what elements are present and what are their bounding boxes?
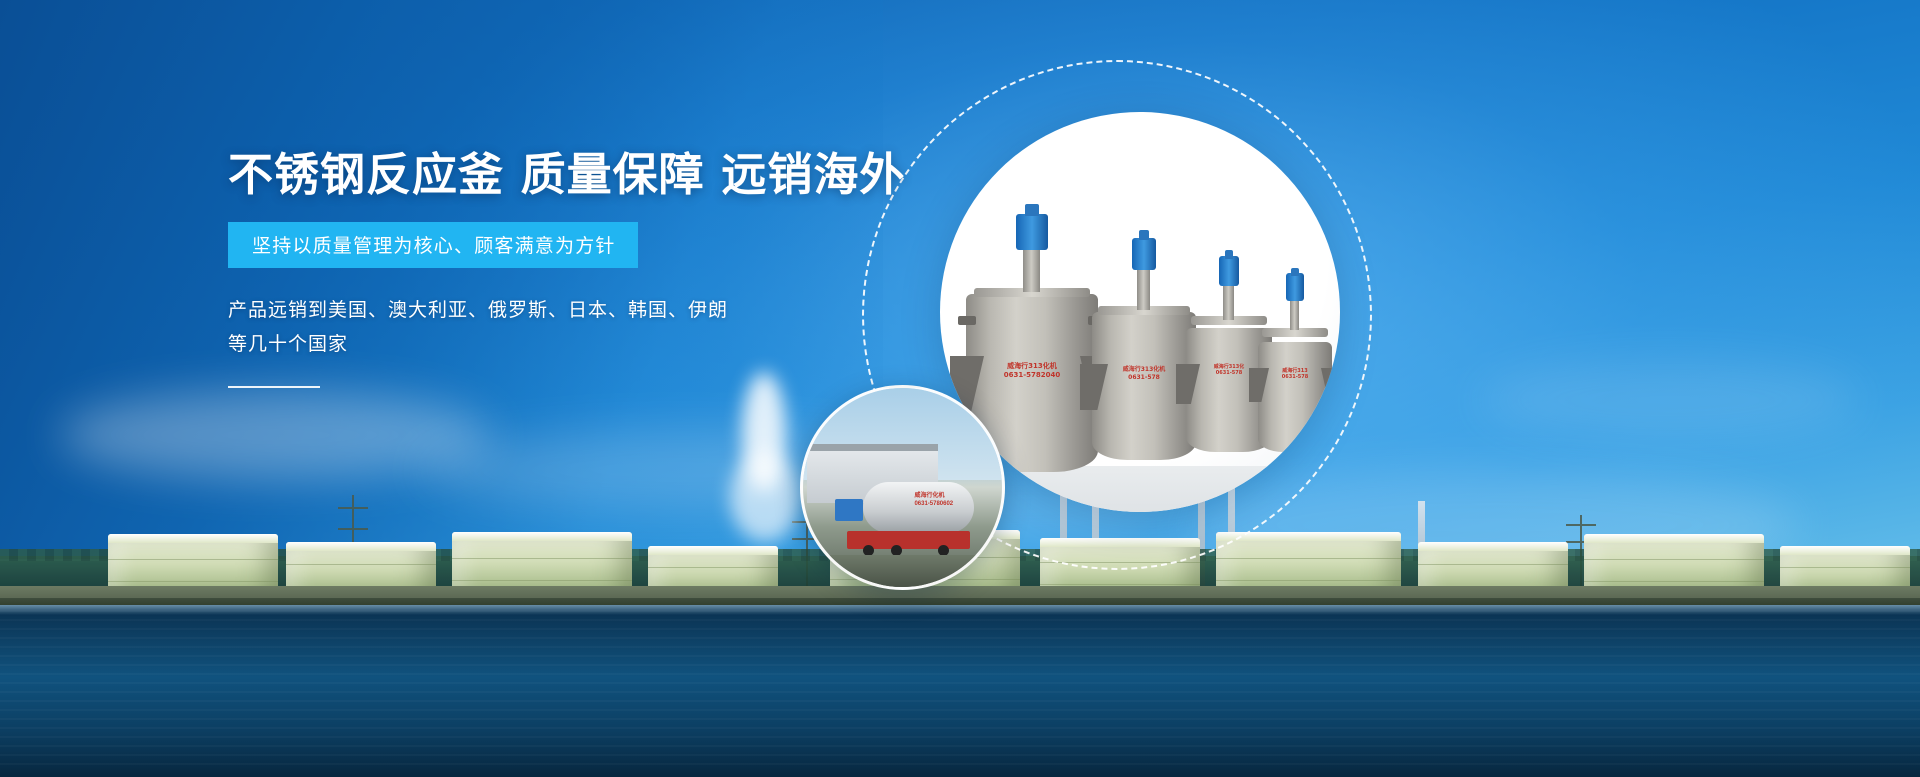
reactor-label: 威海行313化机 0631-5782040 bbox=[1004, 362, 1060, 380]
reactor-label: 威海行313化机 0631-578 bbox=[1123, 366, 1166, 381]
reactor-vessel: 威海行313 0631-578 bbox=[1258, 268, 1332, 452]
hero-banner: 威海行313化机 0631-5782040 威海行313化机 0631-578 bbox=[0, 0, 1920, 777]
steam-plume bbox=[730, 452, 800, 542]
inset-tank-label: 威海行化机 0631-5780602 bbox=[914, 493, 953, 507]
water-reflection bbox=[0, 610, 1920, 770]
horizontal-rule-divider bbox=[228, 386, 320, 388]
hero-text-block: 不锈钢反应釜 质量保障 远销海外 坚持以质量管理为核心、顾客满意为方针 产品远销… bbox=[228, 150, 948, 388]
hero-subtitle-bar: 坚持以质量管理为核心、顾客满意为方针 bbox=[228, 222, 638, 268]
inset-ground bbox=[803, 555, 1002, 587]
reactor-label: 威海行313 0631-578 bbox=[1282, 368, 1308, 381]
cloud bbox=[1480, 360, 1860, 440]
hero-subtitle-text: 坚持以质量管理为核心、顾客满意为方针 bbox=[252, 236, 616, 257]
inset-blue-motor bbox=[835, 499, 863, 521]
hero-paragraph-line-1: 产品远销到美国、澳大利亚、俄罗斯、日本、韩国、伊朗 bbox=[228, 294, 748, 328]
reactor-label: 威海行313化 0631-578 bbox=[1214, 364, 1244, 377]
inset-photo-circle: 威海行化机 0631-5780602 bbox=[800, 385, 1005, 590]
hero-paragraph-line-2: 等几十个国家 bbox=[228, 328, 748, 362]
hero-headline: 不锈钢反应釜 质量保障 远销海外 bbox=[228, 150, 948, 200]
hero-paragraph: 产品远销到美国、澳大利亚、俄罗斯、日本、韩国、伊朗 等几十个国家 bbox=[228, 294, 748, 362]
reactor-vessel: 威海行313化机 0631-578 bbox=[1092, 230, 1196, 460]
